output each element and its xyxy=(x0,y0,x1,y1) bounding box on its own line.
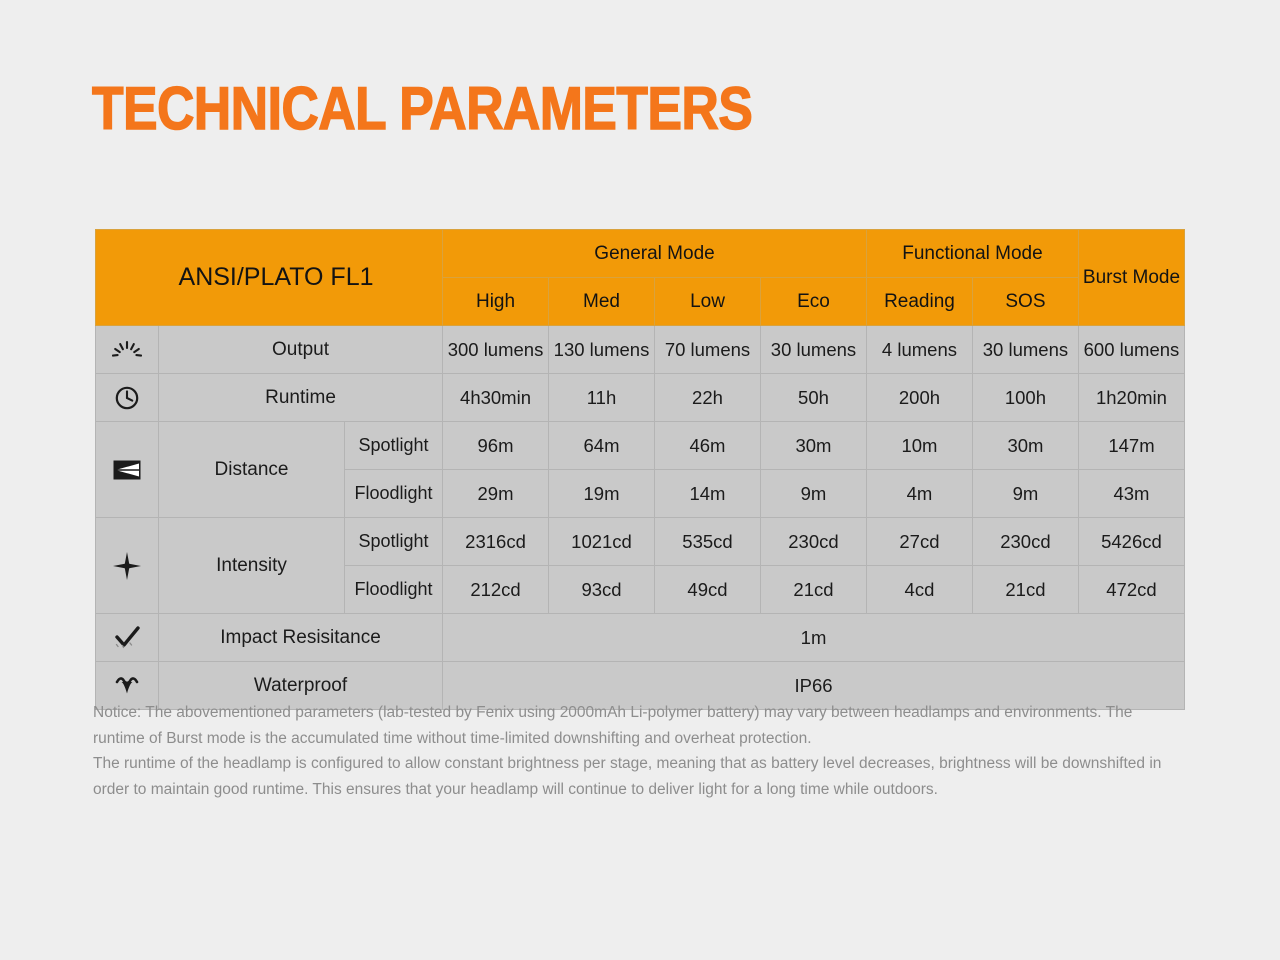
row-label-distance: Distance xyxy=(159,422,345,518)
cell-impact-resistance-value: 1m xyxy=(443,614,1185,662)
cell-intensity-floodlight-med: 93cd xyxy=(549,566,655,614)
header-mode-reading: Reading xyxy=(866,278,972,326)
sunburst-icon-cell xyxy=(96,326,159,374)
intensity-icon-cell xyxy=(96,518,159,614)
cell-intensity-spotlight-high: 2316cd xyxy=(443,518,549,566)
cell-output-med: 130 lumens xyxy=(549,326,655,374)
cell-distance-floodlight-sos: 9m xyxy=(972,470,1078,518)
header-mode-eco: Eco xyxy=(760,278,866,326)
cell-output-burst: 600 lumens xyxy=(1078,326,1184,374)
technical-parameters-table: ANSI/PLATO FL1 General Mode Functional M… xyxy=(95,229,1185,710)
sunburst-icon xyxy=(96,326,158,373)
beam-icon xyxy=(96,422,158,517)
intensity-icon xyxy=(96,518,158,613)
cell-runtime-low: 22h xyxy=(655,374,761,422)
cell-intensity-spotlight-eco: 230cd xyxy=(760,518,866,566)
cell-runtime-reading: 200h xyxy=(866,374,972,422)
cell-distance-spotlight-eco: 30m xyxy=(760,422,866,470)
cell-output-reading: 4 lumens xyxy=(866,326,972,374)
cell-distance-spotlight-sos: 30m xyxy=(972,422,1078,470)
row-label-impact-resistance: Impact Resisitance xyxy=(159,614,443,662)
cell-distance-floodlight-burst: 43m xyxy=(1078,470,1184,518)
cell-intensity-floodlight-burst: 472cd xyxy=(1078,566,1184,614)
table-header-row-groups: ANSI/PLATO FL1 General Mode Functional M… xyxy=(96,230,1185,278)
cell-output-sos: 30 lumens xyxy=(972,326,1078,374)
cell-distance-spotlight-low: 46m xyxy=(655,422,761,470)
header-mode-sos: SOS xyxy=(972,278,1078,326)
table-row-runtime: Runtime 4h30min 11h 22h 50h 200h 100h 1h… xyxy=(96,374,1185,422)
notice-line-2: The runtime of the headlamp is configure… xyxy=(93,751,1188,802)
cell-intensity-spotlight-reading: 27cd xyxy=(866,518,972,566)
notice-block: Notice: The abovementioned parameters (l… xyxy=(93,700,1188,802)
page-title: TECHNICAL PARAMETERS xyxy=(92,78,752,140)
cell-intensity-floodlight-eco: 21cd xyxy=(760,566,866,614)
checkmark-icon-cell xyxy=(96,614,159,662)
sub-label-intensity-floodlight: Floodlight xyxy=(345,566,443,614)
sub-label-distance-floodlight: Floodlight xyxy=(345,470,443,518)
cell-distance-floodlight-med: 19m xyxy=(549,470,655,518)
cell-intensity-spotlight-low: 535cd xyxy=(655,518,761,566)
clock-icon-cell xyxy=(96,374,159,422)
cell-distance-spotlight-high: 96m xyxy=(443,422,549,470)
row-label-intensity: Intensity xyxy=(159,518,345,614)
sub-label-intensity-spotlight: Spotlight xyxy=(345,518,443,566)
cell-runtime-burst: 1h20min xyxy=(1078,374,1184,422)
cell-runtime-sos: 100h xyxy=(972,374,1078,422)
cell-runtime-med: 11h xyxy=(549,374,655,422)
cell-distance-floodlight-high: 29m xyxy=(443,470,549,518)
cell-output-eco: 30 lumens xyxy=(760,326,866,374)
table-row-intensity-spotlight: Intensity Spotlight 2316cd 1021cd 535cd … xyxy=(96,518,1185,566)
cell-intensity-floodlight-reading: 4cd xyxy=(866,566,972,614)
cell-output-low: 70 lumens xyxy=(655,326,761,374)
cell-intensity-floodlight-high: 212cd xyxy=(443,566,549,614)
table-row-distance-spotlight: Distance Spotlight 96m 64m 46m 30m 10m 3… xyxy=(96,422,1185,470)
header-mode-med: Med xyxy=(549,278,655,326)
cell-intensity-spotlight-sos: 230cd xyxy=(972,518,1078,566)
row-label-output: Output xyxy=(159,326,443,374)
header-mode-low: Low xyxy=(655,278,761,326)
cell-distance-spotlight-med: 64m xyxy=(549,422,655,470)
clock-icon xyxy=(96,374,158,421)
cell-output-high: 300 lumens xyxy=(443,326,549,374)
header-mode-high: High xyxy=(443,278,549,326)
checkmark-icon xyxy=(96,614,158,661)
cell-distance-floodlight-eco: 9m xyxy=(760,470,866,518)
header-group-general-mode: General Mode xyxy=(443,230,867,278)
sub-label-distance-spotlight: Spotlight xyxy=(345,422,443,470)
table-row-impact-resistance: Impact Resisitance 1m xyxy=(96,614,1185,662)
cell-intensity-floodlight-sos: 21cd xyxy=(972,566,1078,614)
header-ansi-plato-fl1: ANSI/PLATO FL1 xyxy=(96,230,443,326)
header-burst-mode: Burst Mode xyxy=(1078,230,1184,326)
header-group-functional-mode: Functional Mode xyxy=(866,230,1078,278)
cell-intensity-floodlight-low: 49cd xyxy=(655,566,761,614)
cell-distance-floodlight-reading: 4m xyxy=(866,470,972,518)
cell-distance-spotlight-burst: 147m xyxy=(1078,422,1184,470)
cell-runtime-eco: 50h xyxy=(760,374,866,422)
notice-line-1: Notice: The abovementioned parameters (l… xyxy=(93,700,1188,751)
beam-icon-cell xyxy=(96,422,159,518)
row-label-runtime: Runtime xyxy=(159,374,443,422)
cell-intensity-spotlight-med: 1021cd xyxy=(549,518,655,566)
table-row-output: Output 300 lumens 130 lumens 70 lumens 3… xyxy=(96,326,1185,374)
cell-distance-floodlight-low: 14m xyxy=(655,470,761,518)
cell-runtime-high: 4h30min xyxy=(443,374,549,422)
cell-distance-spotlight-reading: 10m xyxy=(866,422,972,470)
cell-intensity-spotlight-burst: 5426cd xyxy=(1078,518,1184,566)
